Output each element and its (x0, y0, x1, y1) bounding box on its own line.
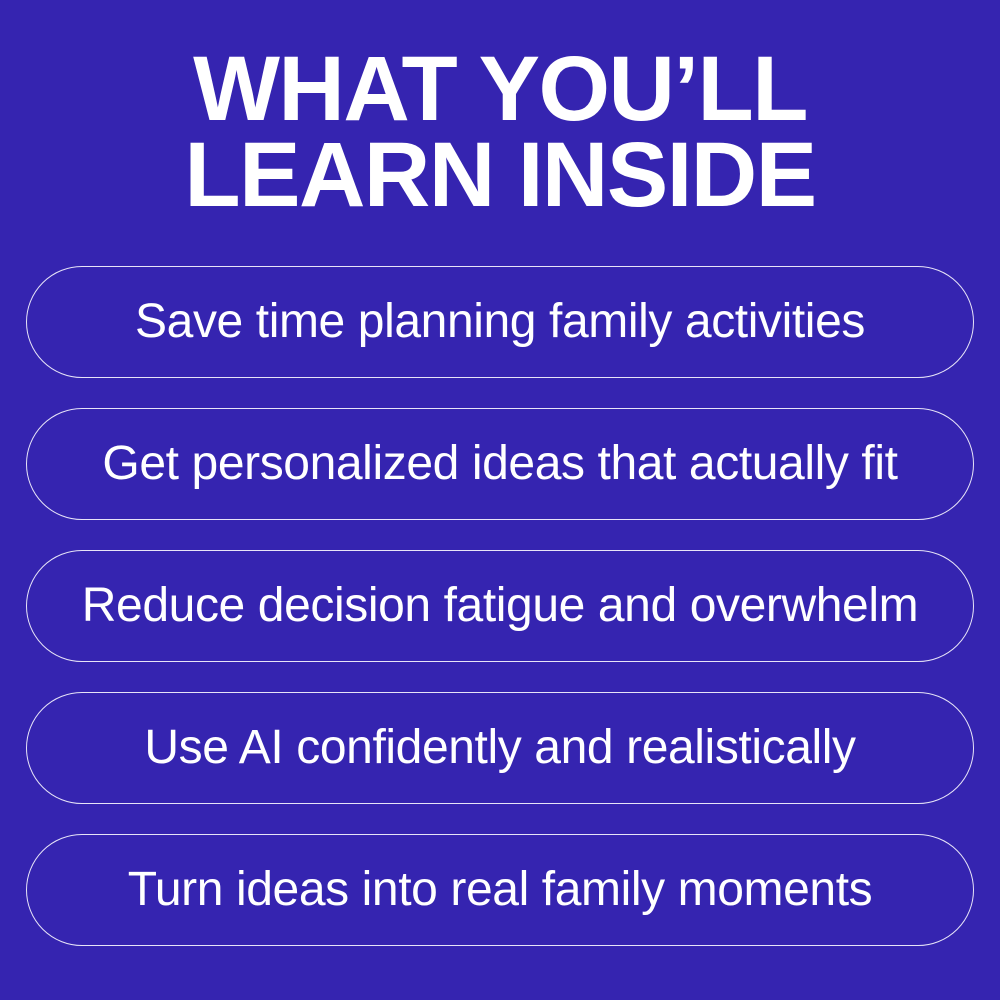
benefit-label: Get personalized ideas that actually fit (102, 438, 897, 491)
list-item: Turn ideas into real family moments (26, 834, 974, 946)
benefit-label: Turn ideas into real family moments (128, 864, 873, 917)
benefits-slide: WHAT YOU’LL LEARN INSIDE Save time plann… (0, 0, 1000, 1000)
benefit-label: Reduce decision fatigue and overwhelm (82, 580, 918, 633)
benefit-label: Save time planning family activities (135, 296, 865, 349)
page-title: WHAT YOU’LL LEARN INSIDE (40, 46, 960, 219)
list-item: Use AI confidently and realistically (26, 692, 974, 804)
benefit-label: Use AI confidently and realistically (144, 722, 855, 775)
list-item: Reduce decision fatigue and overwhelm (26, 550, 974, 662)
list-item: Save time planning family activities (26, 266, 974, 378)
list-item: Get personalized ideas that actually fit (26, 408, 974, 520)
benefit-list: Save time planning family activities Get… (26, 266, 974, 946)
